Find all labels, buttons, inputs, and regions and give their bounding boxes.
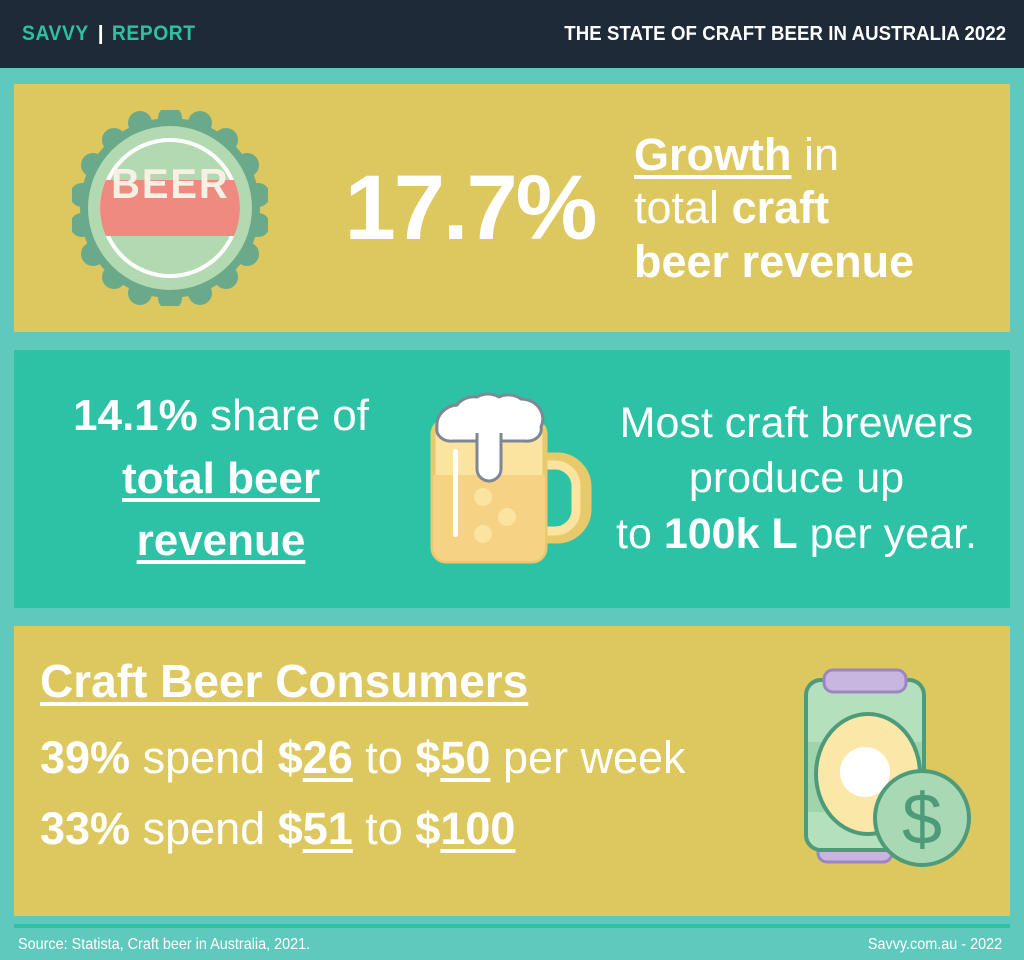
beer-can-illustration: $: [794, 654, 984, 884]
consumers-amount-2b: 100: [440, 803, 515, 854]
consumers-currency-2a: $: [278, 803, 303, 854]
card-consumers: Craft Beer Consumers 39% spend $26 to $5…: [14, 626, 1010, 916]
footer-source: Source: Statista, Craft beer in Australi…: [18, 936, 310, 954]
share-of-words: share of: [198, 391, 369, 440]
beer-mug-illustration: [416, 379, 601, 579]
share-total-beer-words: total beer: [122, 454, 320, 503]
card-share: 14.1% share of total beer revenue: [14, 350, 1010, 608]
consumers-period-1: per week: [490, 732, 685, 783]
consumers-pct-1: 39%: [40, 732, 130, 783]
consumers-amount-1a: 26: [303, 732, 353, 783]
footer-credit[interactable]: Savvy.com.au - 2022: [868, 936, 1002, 954]
brand-name: SAVVY: [22, 22, 89, 46]
brand-report-label: REPORT: [112, 22, 196, 46]
svg-text:$: $: [902, 780, 942, 860]
consumers-heading-text: Craft Beer Consumers: [40, 655, 528, 707]
brand-divider-icon: [99, 25, 102, 44]
consumers-amount-1b: 50: [440, 732, 490, 783]
share-stat-value: 14.1%: [73, 391, 198, 440]
share-revenue-word: revenue: [137, 516, 306, 565]
footer-divider: [14, 924, 1010, 928]
page-footer: Source: Statista, Craft beer in Australi…: [0, 930, 1024, 960]
infographic-page: SAVVY REPORT THE STATE OF CRAFT BEER IN …: [0, 0, 1024, 960]
brewers-line-1: Most craft brewers: [601, 396, 992, 451]
consumers-amount-2a: 51: [303, 803, 353, 854]
growth-keyword: Growth: [634, 129, 791, 180]
consumers-pct-2: 33%: [40, 803, 130, 854]
bottle-cap-badge: BEER: [20, 110, 320, 306]
consumers-currency-2b: $: [415, 803, 440, 854]
consumers-verb-2: spend: [130, 803, 278, 854]
growth-total-word: total: [634, 182, 732, 233]
brewers-line-2: produce up: [601, 451, 992, 506]
growth-in-word: in: [791, 129, 839, 180]
bottle-cap-label: BEER: [72, 184, 268, 232]
bottle-cap-label-text: BEER: [111, 160, 229, 208]
card-growth: BEER 17.7% Growth in total craft beer re…: [14, 84, 1010, 332]
consumers-range-word-1: to: [353, 732, 416, 783]
growth-craft-word: craft: [732, 182, 830, 233]
beer-can-with-coin-icon: $: [794, 654, 984, 884]
consumers-verb-1: spend: [130, 732, 278, 783]
consumers-currency-1b: $: [415, 732, 440, 783]
brewers-volume-value: 100k L: [664, 510, 798, 558]
brewers-line-3-prefix: to: [616, 510, 664, 558]
share-description: 14.1% share of total beer revenue: [26, 385, 416, 572]
growth-stat-value: 17.7%: [320, 162, 620, 254]
consumers-range-word-2: to: [353, 803, 416, 854]
page-header: SAVVY REPORT THE STATE OF CRAFT BEER IN …: [0, 0, 1024, 68]
page-title: THE STATE OF CRAFT BEER IN AUSTRALIA 202…: [564, 23, 1006, 46]
beer-mug-icon: [421, 379, 596, 579]
growth-revenue-words: beer revenue: [634, 236, 914, 287]
brewers-output-text: Most craft brewers produce up to 100k L …: [601, 396, 998, 561]
consumers-currency-1a: $: [278, 732, 303, 783]
growth-description: Growth in total craft beer revenue: [620, 128, 1000, 287]
brewers-line-3-suffix: per year.: [798, 510, 977, 558]
brand-lockup: SAVVY REPORT: [22, 22, 196, 46]
